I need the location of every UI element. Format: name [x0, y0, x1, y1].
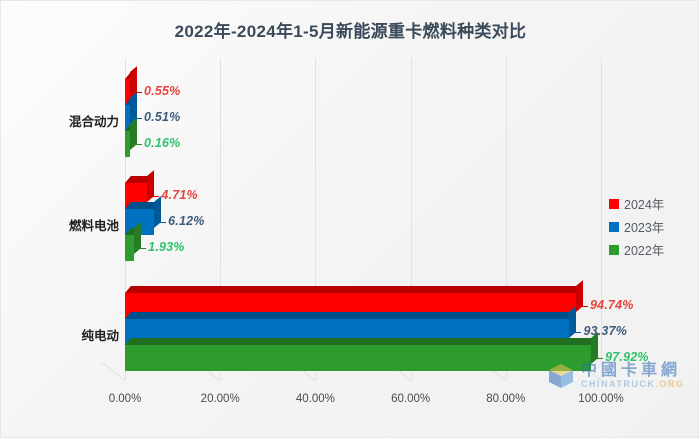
- bar-top-face: [125, 286, 582, 293]
- x-tick-label: 40.00%: [296, 393, 335, 405]
- category-label: 纯电动: [9, 325, 119, 344]
- data-label: 97.92%: [605, 350, 649, 364]
- data-label: 94.74%: [590, 298, 634, 312]
- chart-title: 2022年-2024年1-5月新能源重卡燃料种类对比: [1, 17, 699, 42]
- legend-item-2022年[interactable]: 2022年: [609, 238, 664, 261]
- data-label: 6.12%: [168, 214, 204, 228]
- data-label-leader: [148, 196, 159, 197]
- chart-container: 2022年-2024年1-5月新能源重卡燃料种类对比 混合动力燃料电池纯电动 0…: [0, 0, 699, 438]
- watermark-english-main: CHINATRUCK: [581, 379, 655, 389]
- bar-face: [125, 345, 591, 371]
- legend-label: 2023年: [624, 217, 664, 236]
- data-label-leader: [131, 144, 142, 145]
- axis-depth-tick: [101, 362, 125, 381]
- data-label: 4.71%: [161, 188, 197, 202]
- bar-2022年-燃料电池: [125, 235, 134, 261]
- data-label: 0.16%: [144, 136, 180, 150]
- data-label-leader: [570, 332, 581, 333]
- x-tick-label: 100.00%: [578, 393, 623, 405]
- legend-label: 2022年: [624, 240, 664, 259]
- bar-2022年-纯电动: [125, 345, 591, 371]
- x-tick-label: 20.00%: [201, 393, 240, 405]
- watermark-english: CHINATRUCK.ORG: [581, 380, 684, 389]
- category-label: 燃料电池: [9, 215, 119, 234]
- legend-item-2023年[interactable]: 2023年: [609, 215, 664, 238]
- bar-top-face: [125, 312, 575, 319]
- data-label-leader: [155, 222, 166, 223]
- bar-2022年-混合动力: [125, 131, 130, 157]
- data-label: 0.55%: [144, 84, 180, 98]
- legend-swatch-icon: [609, 199, 619, 209]
- data-label: 93.37%: [583, 324, 627, 338]
- bar-top-face: [125, 338, 597, 345]
- watermark-suffix: .ORG: [655, 379, 684, 389]
- data-label: 1.93%: [148, 240, 184, 254]
- chart-legend: 2024年2023年2022年: [609, 192, 664, 261]
- data-label: 0.51%: [144, 110, 180, 124]
- data-label-leader: [577, 306, 588, 307]
- bar-face: [125, 235, 134, 261]
- legend-swatch-icon: [609, 222, 619, 232]
- x-tick-label: 60.00%: [391, 393, 430, 405]
- x-tick-label: 0.00%: [109, 393, 142, 405]
- legend-label: 2024年: [624, 194, 664, 213]
- data-label-leader: [135, 248, 146, 249]
- x-tick-label: 80.00%: [486, 393, 525, 405]
- legend-item-2024年[interactable]: 2024年: [609, 192, 664, 215]
- legend-swatch-icon: [609, 245, 619, 255]
- data-label-leader: [592, 358, 603, 359]
- category-label: 混合动力: [9, 111, 119, 130]
